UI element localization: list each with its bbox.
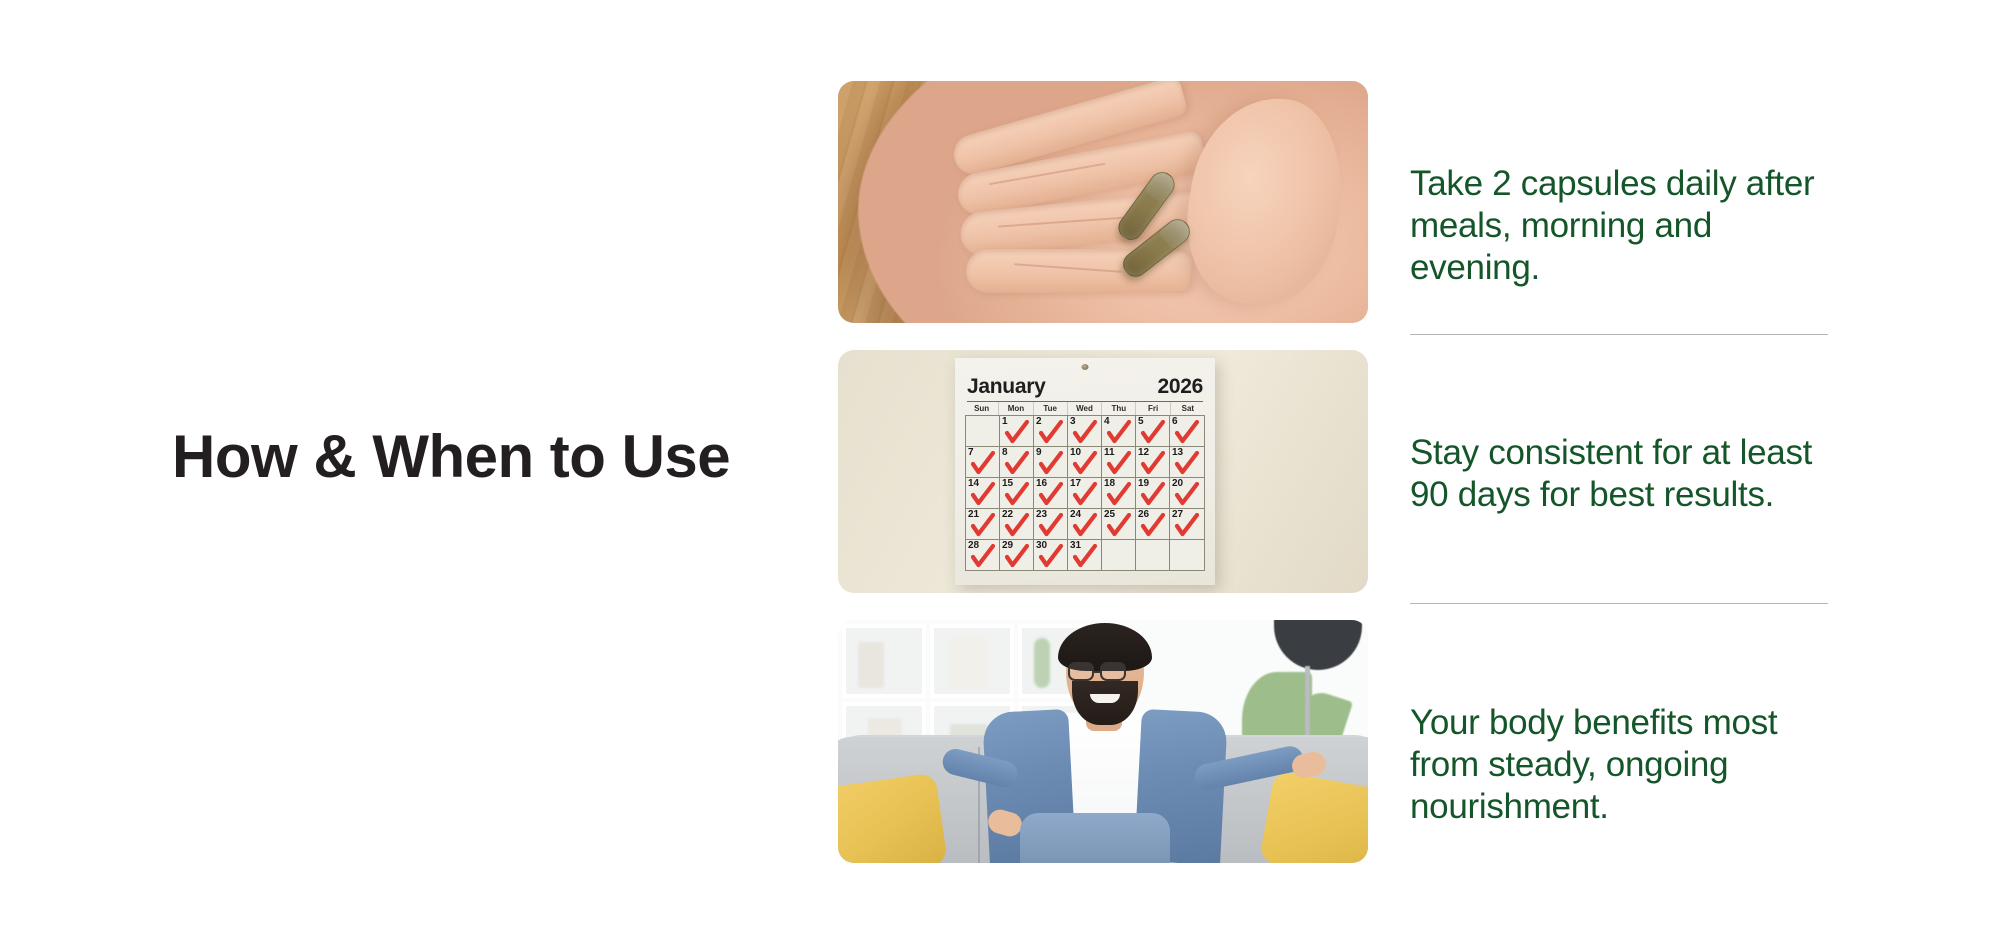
eyeglass-lens-right — [1100, 662, 1126, 681]
calendar-day-number: 21 — [968, 510, 979, 520]
calendar-day-number: 8 — [1002, 448, 1008, 458]
calendar-day-number: 26 — [1138, 510, 1149, 520]
red-check-icon — [1038, 420, 1071, 450]
calendar-day-number: 7 — [968, 448, 974, 458]
calendar-day-cell: 29 — [1000, 540, 1034, 571]
calendar-day-header: Sat — [1171, 402, 1205, 415]
calendar-grid: 1234567891011121314151617181920212223242… — [965, 415, 1205, 571]
calendar-day-cell: 31 — [1068, 540, 1102, 571]
red-check-icon — [1174, 420, 1208, 450]
calendar-day-cell: 17 — [1068, 478, 1102, 509]
step-image-relaxed-man-on-sofa — [838, 620, 1368, 863]
calendar-day-number: 28 — [968, 541, 979, 551]
calendar-sheet: January 2026 SunMonTueWedThuFriSat 12345… — [955, 358, 1215, 585]
calendar-empty-cell — [966, 416, 1000, 447]
calendar-day-cell: 10 — [1068, 447, 1102, 478]
calendar-day-number: 22 — [1002, 510, 1013, 520]
shelf-cube — [842, 624, 926, 698]
calendar-day-number: 2 — [1036, 417, 1042, 427]
slide-canvas: How & When to Use January 2026 SunMonTue… — [0, 0, 2000, 938]
calendar-day-number: 3 — [1070, 417, 1076, 427]
step-text-dosage: Take 2 capsules daily after meals, morni… — [1410, 163, 1838, 289]
red-check-icon — [970, 451, 1003, 481]
calendar-day-cell: 24 — [1068, 509, 1102, 540]
living-room-background — [838, 620, 1368, 863]
calendar-day-header: Tue — [1034, 402, 1068, 415]
eyeglass-bridge — [1094, 671, 1102, 673]
calendar-day-number: 30 — [1036, 541, 1047, 551]
red-check-icon — [1072, 420, 1105, 450]
calendar-day-cell: 19 — [1136, 478, 1170, 509]
calendar-empty-cell — [1136, 540, 1170, 571]
calendar-day-number: 27 — [1172, 510, 1183, 520]
calendar-day-number: 12 — [1138, 448, 1149, 458]
calendar-day-cell: 5 — [1136, 416, 1170, 447]
calendar-day-number: 11 — [1104, 448, 1115, 458]
calendar-day-cell: 23 — [1034, 509, 1068, 540]
smile — [1090, 694, 1120, 703]
calendar-day-number: 20 — [1172, 479, 1183, 489]
calendar-day-number: 29 — [1002, 541, 1013, 551]
calendar-day-number: 19 — [1138, 479, 1149, 489]
eyeglass-lens-left — [1068, 662, 1094, 681]
red-check-icon — [1038, 451, 1071, 481]
calendar-day-cell: 1 — [1000, 416, 1034, 447]
yellow-cushion-right — [1259, 771, 1368, 863]
calendar-day-number: 16 — [1036, 479, 1047, 489]
calendar-empty-cell — [1102, 540, 1136, 571]
calendar-day-cell: 27 — [1170, 509, 1204, 540]
calendar-day-cell: 28 — [966, 540, 1000, 571]
calendar-day-cell: 11 — [1102, 447, 1136, 478]
shelf-object — [858, 642, 884, 688]
page-title: How & When to Use — [172, 424, 792, 490]
calendar-day-header: Thu — [1102, 402, 1136, 415]
jeans — [1020, 813, 1170, 863]
calendar-day-cell: 8 — [1000, 447, 1034, 478]
calendar-day-cell: 25 — [1102, 509, 1136, 540]
calendar-day-number: 4 — [1104, 417, 1110, 427]
divider-two — [1410, 603, 1828, 604]
person-figure — [990, 635, 1220, 863]
calendar-day-number: 13 — [1172, 448, 1183, 458]
calendar-day-cell: 16 — [1034, 478, 1068, 509]
calendar-day-cell: 26 — [1136, 509, 1170, 540]
calendar-empty-cell — [1170, 540, 1204, 571]
calendar-day-header: Sun — [965, 402, 999, 415]
step-text-consistency: Stay consistent for at least 90 days for… — [1410, 432, 1838, 516]
calendar-day-number: 17 — [1070, 479, 1081, 489]
step-image-wall-calendar: January 2026 SunMonTueWedThuFriSat 12345… — [838, 350, 1368, 593]
calendar-day-header: Mon — [999, 402, 1033, 415]
calendar-year-label: 2026 — [1157, 375, 1203, 399]
calendar-day-cell: 21 — [966, 509, 1000, 540]
step-text-nourishment: Your body benefits most from steady, ong… — [1410, 702, 1838, 828]
step-image-hand-holding-capsules — [838, 81, 1368, 323]
calendar-day-header: Wed — [1068, 402, 1102, 415]
calendar-day-cell: 9 — [1034, 447, 1068, 478]
calendar-pin-icon — [1082, 364, 1089, 370]
calendar-day-cell: 4 — [1102, 416, 1136, 447]
calendar-month-label: January — [967, 375, 1045, 399]
calendar-day-number: 5 — [1138, 417, 1144, 427]
calendar-day-cell: 13 — [1170, 447, 1204, 478]
calendar-day-number: 1 — [1002, 417, 1008, 427]
calendar-day-cell: 20 — [1170, 478, 1204, 509]
calendar-day-number: 10 — [1070, 448, 1081, 458]
calendar-day-cell: 18 — [1102, 478, 1136, 509]
shelf-picture-frame — [948, 636, 988, 688]
calendar-day-number: 15 — [1002, 479, 1013, 489]
calendar-day-cell: 30 — [1034, 540, 1068, 571]
red-check-icon — [1106, 420, 1139, 450]
calendar-day-header: Fri — [1136, 402, 1170, 415]
calendar-day-number: 24 — [1070, 510, 1081, 520]
calendar-day-number: 23 — [1036, 510, 1047, 520]
calendar-day-cell: 6 — [1170, 416, 1204, 447]
red-check-icon — [1004, 420, 1037, 450]
calendar-day-cell: 12 — [1136, 447, 1170, 478]
calendar-day-cell: 3 — [1068, 416, 1102, 447]
calendar-day-number: 6 — [1172, 417, 1178, 427]
calendar-day-number: 25 — [1104, 510, 1115, 520]
yellow-cushion-left — [838, 773, 948, 863]
calendar-day-cell: 2 — [1034, 416, 1068, 447]
calendar-day-number: 18 — [1104, 479, 1115, 489]
calendar-day-cell: 7 — [966, 447, 1000, 478]
calendar-day-cell: 15 — [1000, 478, 1034, 509]
divider-one — [1410, 334, 1828, 335]
red-check-icon — [1004, 451, 1037, 481]
calendar-day-cell: 14 — [966, 478, 1000, 509]
red-check-icon — [1140, 420, 1173, 450]
calendar-day-headers: SunMonTueWedThuFriSat — [965, 402, 1205, 415]
calendar-day-number: 9 — [1036, 448, 1042, 458]
calendar-day-number: 31 — [1070, 541, 1081, 551]
calendar-day-number: 14 — [968, 479, 979, 489]
calendar-day-cell: 22 — [1000, 509, 1034, 540]
